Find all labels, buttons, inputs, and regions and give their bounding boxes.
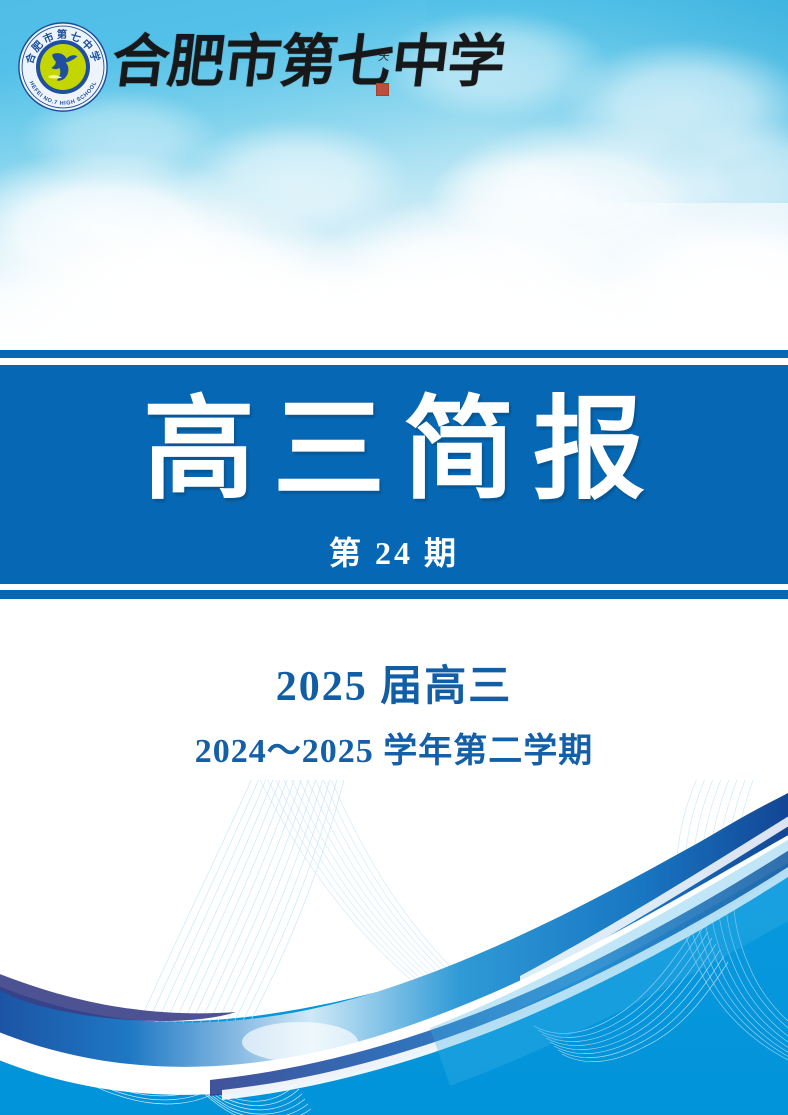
issue-number: 第 24 期 xyxy=(0,533,788,573)
bulletin-title: 高三简报 xyxy=(0,389,788,513)
banner-top-rule xyxy=(0,350,788,358)
banner-bottom-rule xyxy=(0,590,788,599)
title-banner: 高三简报 第 24 期 xyxy=(0,365,788,584)
term-subtitle: 2024～2025 学年第二学期 xyxy=(0,730,788,774)
calligraphy-signature: 夭 xyxy=(372,52,396,96)
school-name-calligraphy: 合肥市第七中学 xyxy=(108,28,379,98)
red-seal-stamp xyxy=(376,83,389,96)
sky-fade-overlay xyxy=(0,230,788,350)
bulletin-cover-page: 合肥市第七中学 HEFEI NO.7 HIGH SCHOOL 合肥市第七中学 夭… xyxy=(0,0,788,1115)
school-crest-logo: 合肥市第七中学 HEFEI NO.7 HIGH SCHOOL xyxy=(18,22,108,112)
grade-subtitle: 2025 届高三 xyxy=(0,660,788,714)
bottom-wave-artwork xyxy=(0,780,788,1115)
signature-strokes: 夭 xyxy=(371,52,397,62)
